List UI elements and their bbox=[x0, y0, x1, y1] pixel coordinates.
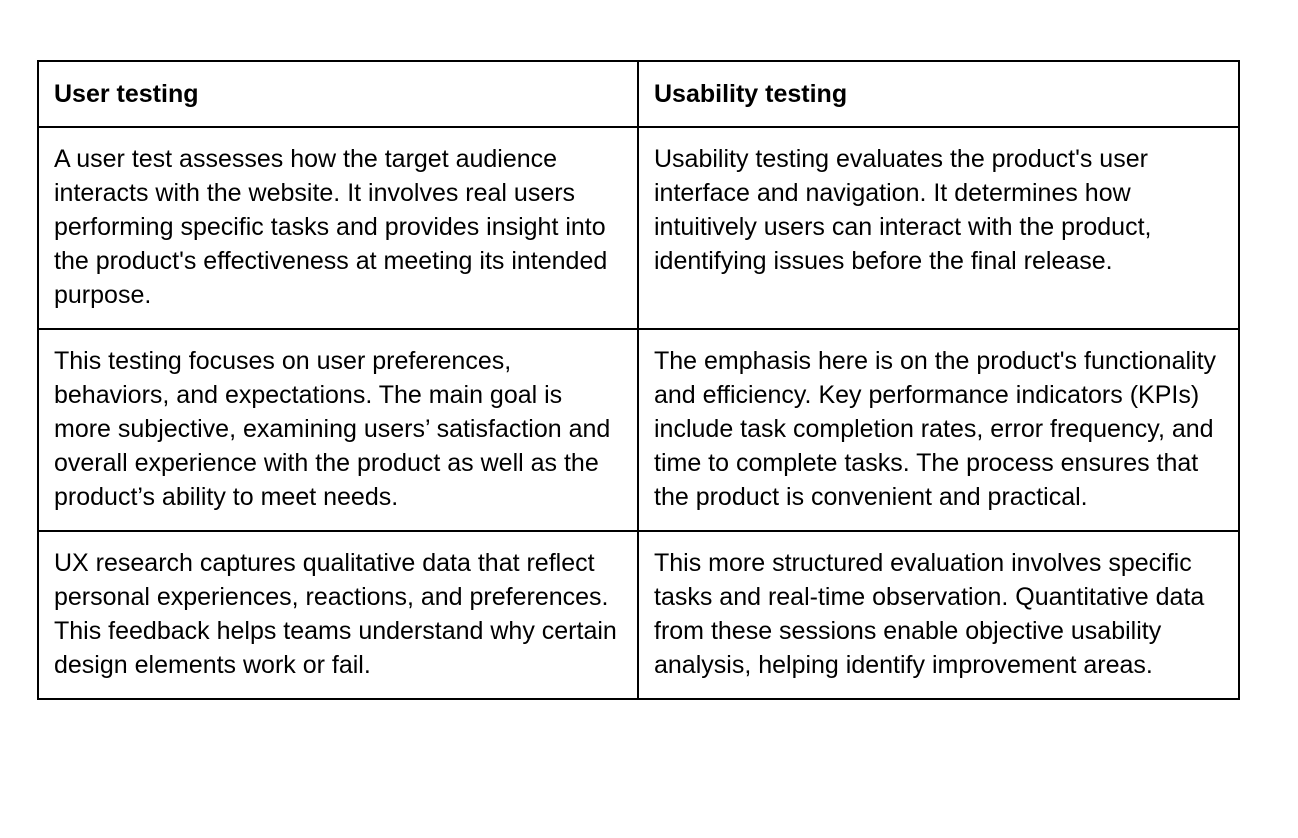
cell-user-testing-1: A user test assesses how the target audi… bbox=[38, 127, 638, 329]
table-header-row: User testing Usability testing bbox=[38, 61, 1239, 127]
cell-text: Usability testing evaluates the product'… bbox=[654, 142, 1224, 278]
cell-text: A user test assesses how the target audi… bbox=[54, 142, 623, 312]
table-body: A user test assesses how the target audi… bbox=[38, 127, 1239, 699]
cell-usability-testing-2: The emphasis here is on the product's fu… bbox=[638, 329, 1239, 531]
column-header-usability-testing: Usability testing bbox=[638, 61, 1239, 127]
cell-user-testing-3: UX research captures qualitative data th… bbox=[38, 531, 638, 699]
cell-text: This more structured evaluation involves… bbox=[654, 546, 1224, 682]
cell-user-testing-2: This testing focuses on user preferences… bbox=[38, 329, 638, 531]
table-row: UX research captures qualitative data th… bbox=[38, 531, 1239, 699]
cell-text: This testing focuses on user preferences… bbox=[54, 344, 623, 514]
table-row: This testing focuses on user preferences… bbox=[38, 329, 1239, 531]
cell-usability-testing-1: Usability testing evaluates the product'… bbox=[638, 127, 1239, 329]
cell-usability-testing-3: This more structured evaluation involves… bbox=[638, 531, 1239, 699]
table-row: A user test assesses how the target audi… bbox=[38, 127, 1239, 329]
document-page: User testing Usability testing A user te… bbox=[0, 0, 1298, 838]
cell-text: UX research captures qualitative data th… bbox=[54, 546, 623, 682]
table-header: User testing Usability testing bbox=[38, 61, 1239, 127]
column-header-user-testing: User testing bbox=[38, 61, 638, 127]
cell-text: The emphasis here is on the product's fu… bbox=[654, 344, 1224, 514]
comparison-table: User testing Usability testing A user te… bbox=[37, 60, 1240, 700]
